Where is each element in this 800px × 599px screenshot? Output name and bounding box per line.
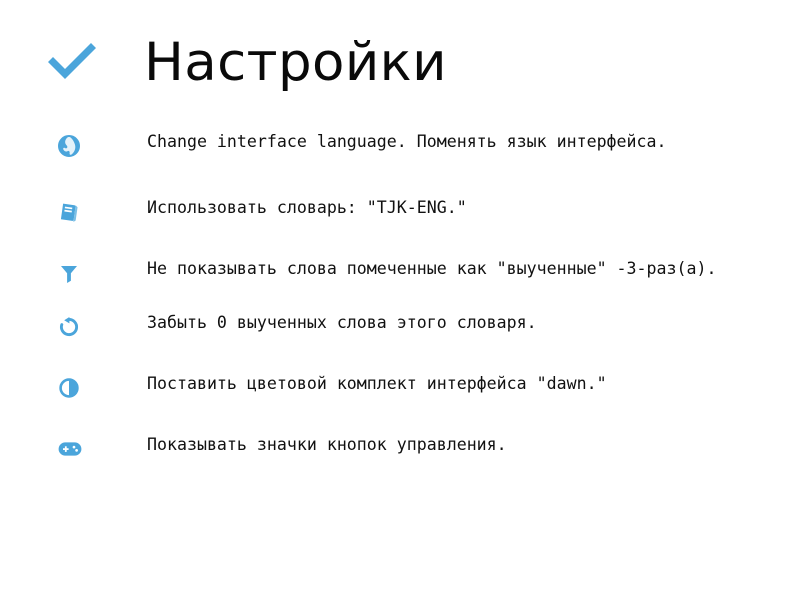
checkmark-icon bbox=[42, 32, 102, 92]
globe-icon bbox=[58, 133, 92, 159]
setting-label: Поставить цветовой комплект интерфейса "… bbox=[147, 373, 786, 395]
setting-label: Не показывать слова помеченные как "выуч… bbox=[147, 258, 786, 280]
setting-row-control-icons[interactable]: Показывать значки кнопок управления. bbox=[0, 434, 800, 470]
setting-row-forget-learned[interactable]: Забыть 0 выученных слова этого словаря. bbox=[0, 312, 800, 348]
setting-row-language[interactable]: Change interface language. Поменять язык… bbox=[0, 131, 800, 167]
setting-label: Change interface language. Поменять язык… bbox=[147, 131, 786, 153]
settings-screen: Настройки Change interface language. Пом… bbox=[0, 0, 800, 599]
page-title: Настройки bbox=[144, 36, 447, 89]
page-header: Настройки bbox=[0, 22, 800, 102]
contrast-circle-icon bbox=[58, 375, 92, 401]
setting-label: Использовать словарь: "TJK-ENG." bbox=[147, 197, 786, 219]
book-icon bbox=[58, 199, 92, 225]
setting-row-color-scheme[interactable]: Поставить цветовой комплект интерфейса "… bbox=[0, 373, 800, 409]
undo-circle-icon bbox=[58, 314, 92, 340]
setting-row-hide-learned[interactable]: Не показывать слова помеченные как "выуч… bbox=[0, 258, 800, 294]
setting-row-dictionary[interactable]: Использовать словарь: "TJK-ENG." bbox=[0, 197, 800, 233]
gamepad-icon bbox=[58, 436, 92, 462]
setting-label: Забыть 0 выученных слова этого словаря. bbox=[147, 312, 786, 334]
funnel-icon bbox=[58, 260, 92, 286]
setting-label: Показывать значки кнопок управления. bbox=[147, 434, 786, 456]
settings-list: Change interface language. Поменять язык… bbox=[0, 131, 800, 470]
